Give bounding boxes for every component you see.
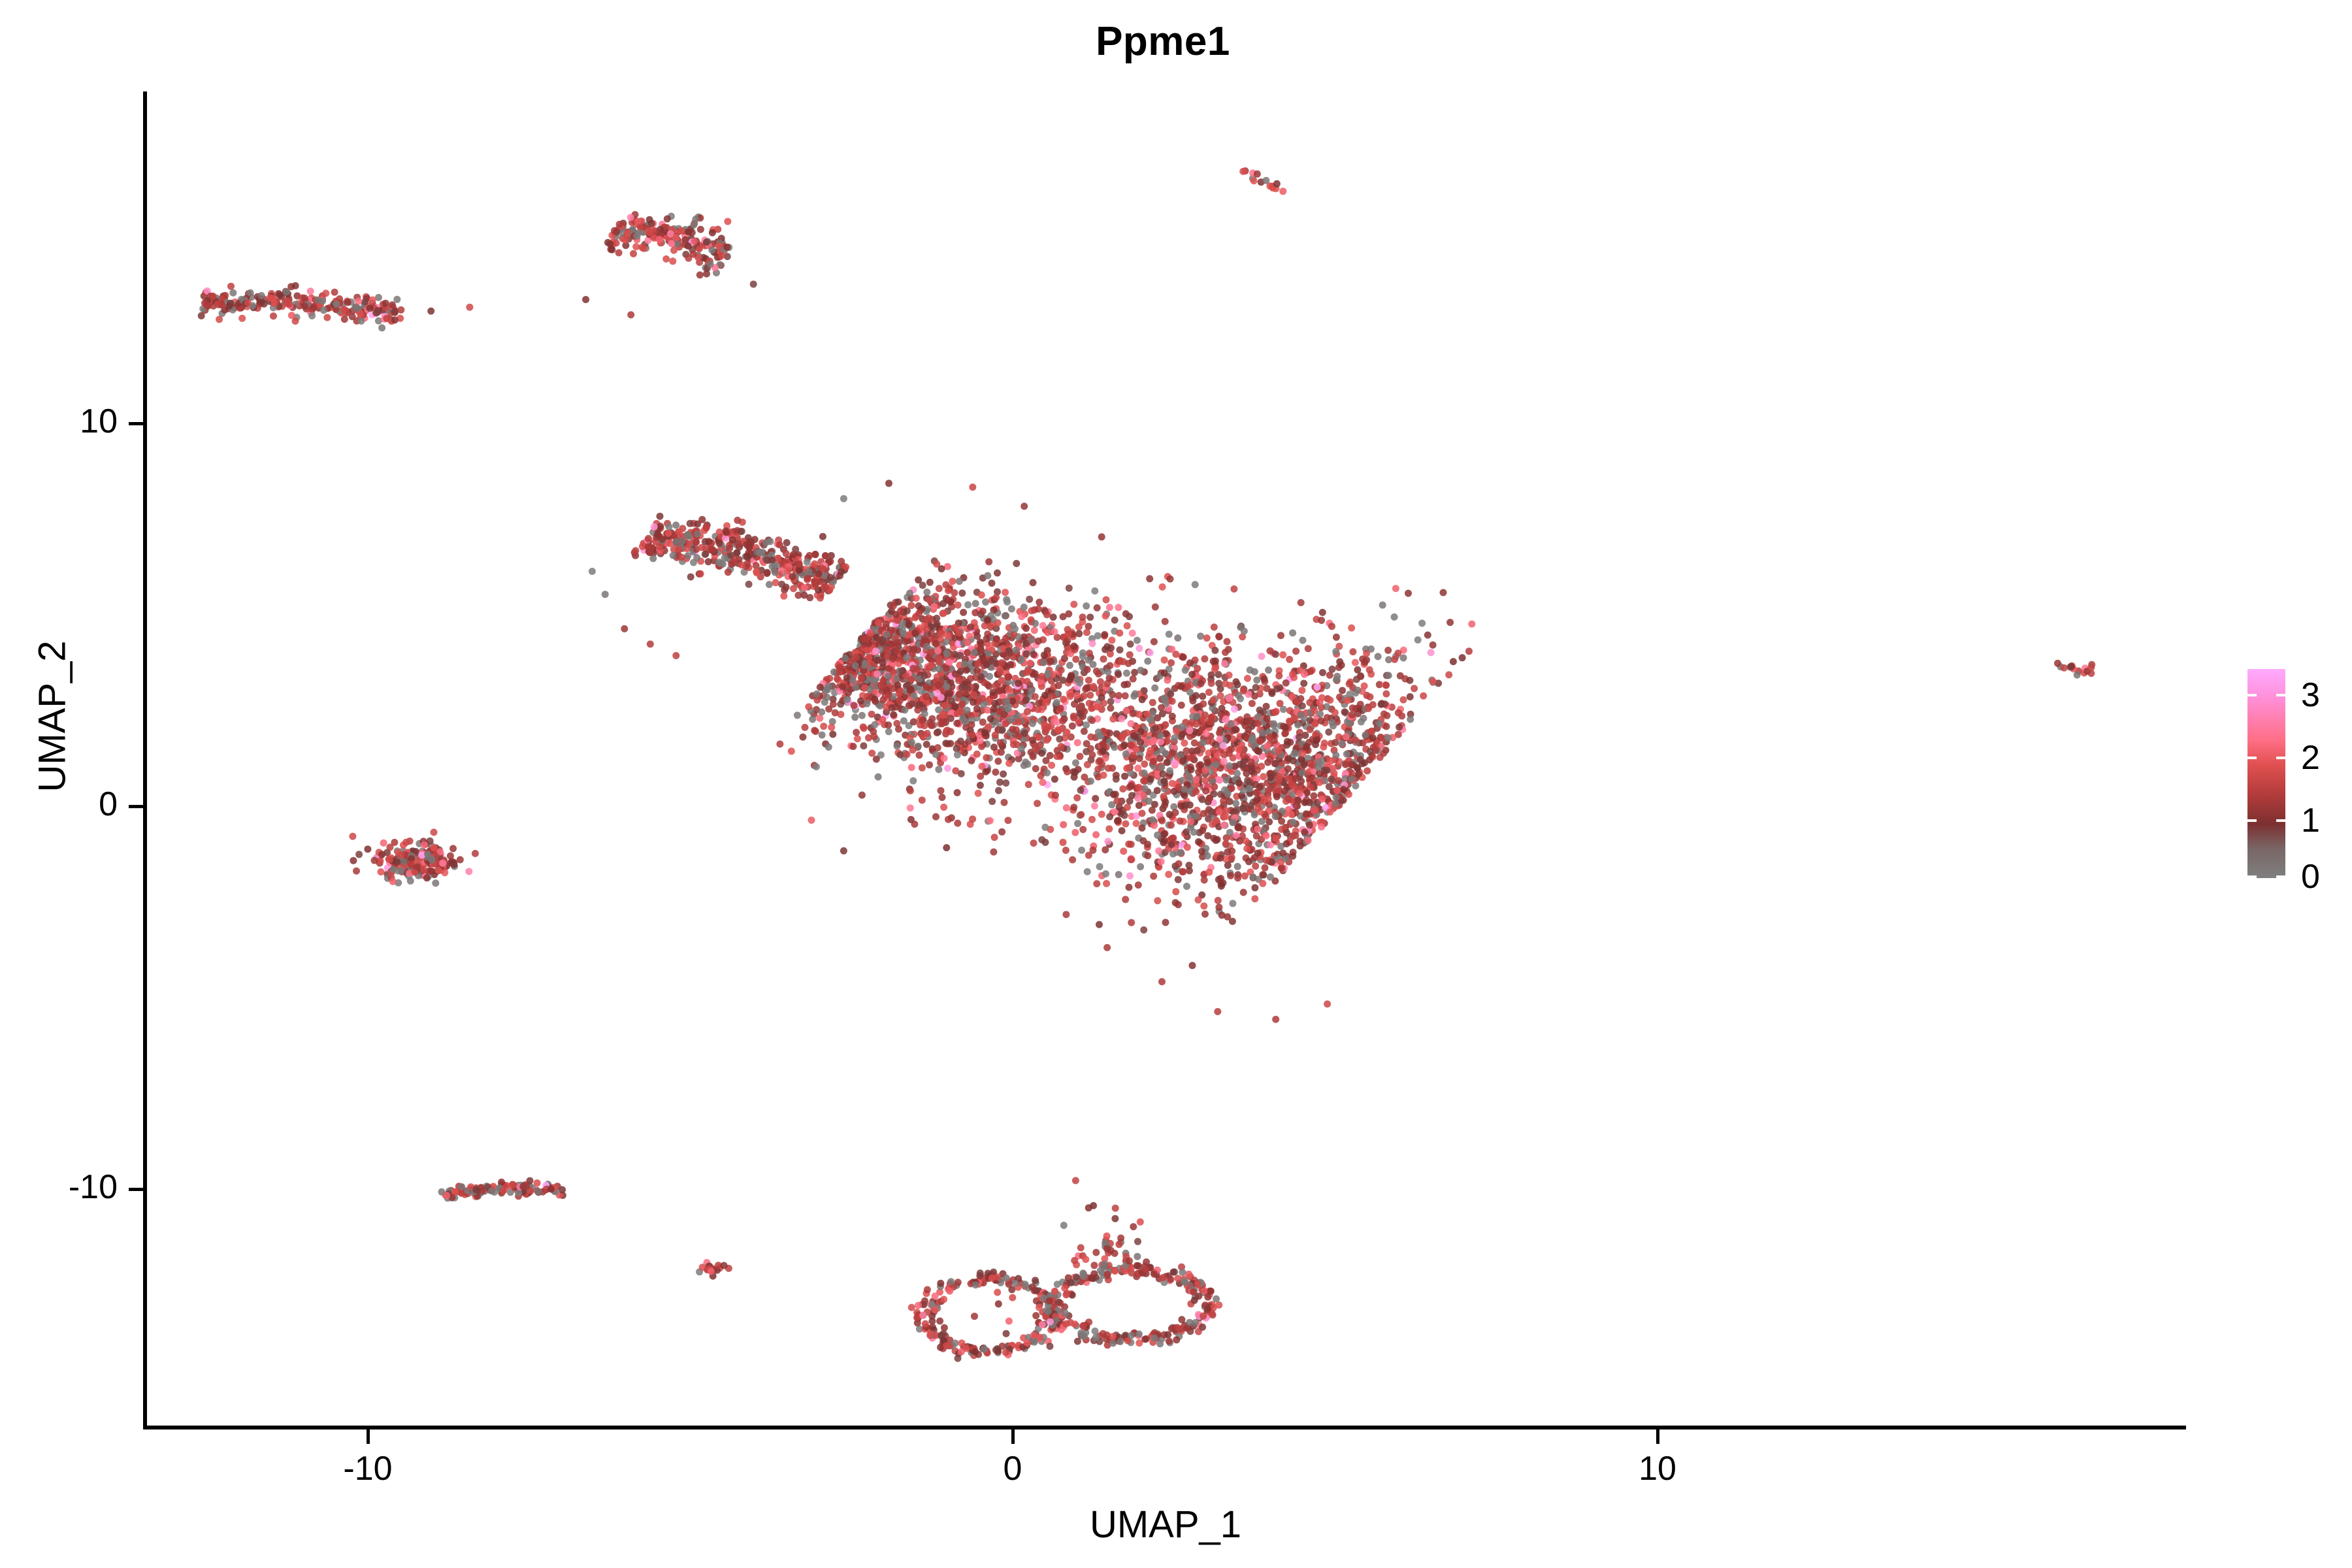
x-axis-title: UMAP_1	[145, 1503, 2186, 1546]
colorbar-tick-0-left	[2247, 875, 2257, 878]
scatter-svg	[145, 91, 2186, 1428]
y-tick-label-10: 10	[33, 402, 118, 441]
page-title: Ppme1	[0, 18, 2339, 65]
x-axis-line	[143, 1426, 2186, 1429]
x-tick-label-0: 0	[1004, 1449, 1022, 1488]
colorbar-gradient	[2247, 669, 2285, 878]
x-tick-label-neg10: -10	[343, 1449, 392, 1488]
x-tick-0	[1011, 1429, 1015, 1444]
x-tick-label-10: 10	[1639, 1449, 1676, 1488]
y-axis-title: UMAP_2	[31, 521, 74, 913]
y-axis-line	[143, 91, 147, 1428]
y-tick-neg10	[129, 1188, 143, 1191]
y-tick-label-neg10: -10	[13, 1168, 118, 1207]
colorbar-tick-2-right	[2276, 757, 2285, 759]
y-tick-0	[129, 805, 143, 808]
legend-label-0: 0	[2301, 860, 2320, 894]
umap-feature-plot: Ppme1 10 0 -10 -10 0 10 UMAP_1 UMAP_2 3 …	[0, 0, 2352, 1568]
plot-panel	[145, 91, 2186, 1428]
legend-label-1: 1	[2301, 804, 2320, 838]
scatter-points-layer	[145, 91, 2186, 1428]
legend-label-3: 3	[2301, 678, 2320, 712]
colorbar-tick-2-left	[2247, 757, 2257, 759]
y-tick-10	[129, 422, 143, 425]
legend-label-2: 2	[2301, 741, 2320, 775]
colorbar-tick-1-right	[2276, 819, 2285, 822]
x-tick-10	[1656, 1429, 1659, 1444]
colorbar-tick-3-left	[2247, 694, 2257, 696]
colorbar-tick-0-right	[2276, 875, 2285, 878]
colorbar-tick-1-left	[2247, 819, 2257, 822]
legend-colorbar: 3 2 1 0	[2247, 669, 2345, 891]
colorbar-tick-3-right	[2276, 694, 2285, 696]
x-tick-neg10	[367, 1429, 370, 1444]
